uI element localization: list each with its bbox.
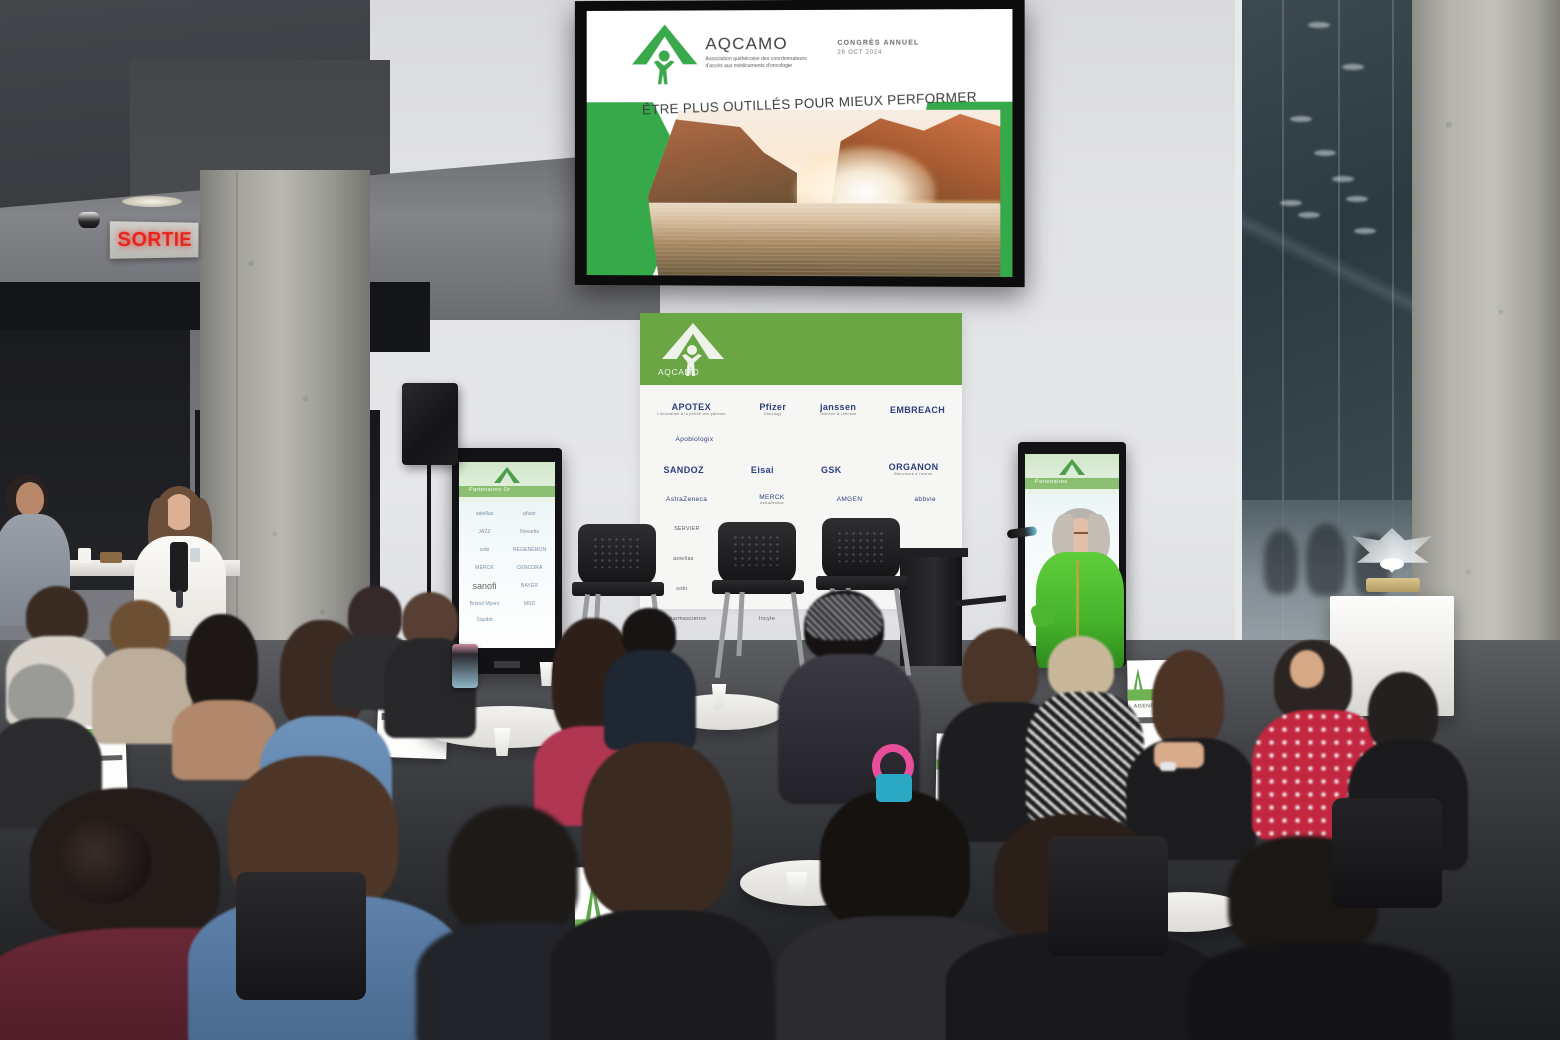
sponsor-logo: abbvie [914,497,936,504]
audience-member-foreground [560,742,760,1040]
exit-sign-label: SORTIE [117,228,192,252]
slide-event-label: CONGRÈS ANNUEL [837,40,919,47]
chair [1048,836,1168,956]
kiosk-left-logo-grid: astellaspfizerJAZZNovartissobiREGENERONM… [463,506,551,644]
conference-room-photo: SORTIE AQCAMO Association québécoise des… [0,0,1560,1040]
security-camera-icon [78,212,100,228]
coffee-cup [78,548,91,563]
kiosk-logo-icon [494,467,520,483]
audience-member [170,614,274,764]
sponsor-logo: GSK [821,466,842,475]
kiosk-right-header-label: Partenaires [1035,479,1068,485]
kiosk-left-header: Partenaires Or [459,462,555,502]
kiosk-sponsor-logo: astellas [463,506,506,522]
kiosk-sponsor-logo: BAYER [508,578,551,594]
sponsor-logo: EMBREACH [890,406,945,415]
sponsor-logo: MERCKAstraZeneca [759,495,784,506]
sponsor-logo: SERVIER [674,527,699,532]
banner-org-name: AQCAMO [658,367,699,377]
chair [236,872,366,1000]
slide-event-date: 26 OCT 2024 [837,50,919,56]
gift-basket [1346,528,1438,602]
slide-event-meta: CONGRÈS ANNUEL 26 OCT 2024 [837,40,919,56]
sponsor-logo: APOTEXL'innovation à la portée des patie… [657,403,726,416]
sponsor-row: SANDOZEisaiGSKORGANONBienvenue à l'aveni… [640,455,962,485]
sponsor-logo: Eisai [751,466,774,475]
pa-speaker-stand [427,463,431,613]
kiosk-sponsor-logo: Novartis [508,524,551,540]
kiosk-right-logo-icon [1059,459,1085,475]
sponsor-logo: sobi [676,587,687,592]
handbag [876,774,912,802]
kiosk-sponsor-logo: JAZZ [463,524,506,540]
slide-org-tagline: Association québécoise des coordonnateur… [705,56,815,71]
kiosk-left-base [494,661,520,668]
sponsor-logo: SANDOZ [664,466,704,475]
sponsor-logo-sub: Bienvenue à l'avenir [889,473,939,476]
kiosk-right-header: Partenaires [1025,454,1119,494]
sponsor-logo: AMGEN [837,497,863,504]
sponsor-logo-sub: AstraZeneca [759,502,784,505]
kiosk-sponsor-logo: CENCORA [508,560,551,576]
audience-member [608,608,692,738]
audience-member [0,664,100,804]
sponsor-logo: Incyte [759,617,775,622]
kiosk-sponsor-logo: sobi [463,542,506,558]
chair [1332,798,1442,908]
sponsor-row: AstraZenecaMERCKAstraZenecaAMGENabbvie [640,485,962,515]
slide-brand: AQCAMO Association québécoise des coordo… [705,34,815,71]
sponsor-logo-sub: L'innovation à la portée des patients [657,413,726,416]
kiosk-right-band: Partenaires [1025,478,1119,489]
banner-header: AQCAMO [640,313,962,385]
slide: AQCAMO Association québécoise des coordo… [587,9,1013,277]
kiosk-sponsor-logo: REGENERON [508,542,551,558]
audience-member [1030,636,1140,816]
ceiling-light [122,196,182,207]
sponsor-logo-sub: Johnson & Johnson [820,413,857,416]
led-presentation-screen: AQCAMO Association québécoise des coordo… [575,0,1025,287]
banner-aqcamo-logo-icon: AQCAMO [662,323,724,379]
kiosk-left-band: Partenaires Or [459,486,555,497]
sponsor-logo: Apobiologix [675,437,713,444]
sponsor-logo: astellas [673,557,694,562]
exit-sign: SORTIE [110,221,199,259]
kiosk-sponsor-logo: pfizer [508,506,551,522]
sponsor-row: Apobiologix [640,425,962,455]
pa-speaker [402,383,458,465]
sponsor-row: SERVIERBeiGene [640,515,962,545]
kiosk-sponsor-logo: MERCK [463,560,506,576]
sponsor-logo: AstraZeneca [666,497,707,504]
slide-photo [648,110,1000,277]
sponsor-logo: janssenJohnson & Johnson [820,403,857,416]
aqcamo-logo-icon [632,24,697,86]
smartphone [452,644,478,688]
slide-org-name: AQCAMO [705,34,815,54]
sponsor-row: APOTEXL'innovation à la portée des patie… [640,395,962,425]
sponsor-logo: ORGANONBienvenue à l'avenir [889,463,939,476]
kiosk-left-header-label: Partenaires Or [469,487,510,493]
pastry [100,552,122,563]
sponsor-logo: PfizerOncology [759,403,786,416]
sponsor-logo-sub: Oncology [759,413,786,416]
